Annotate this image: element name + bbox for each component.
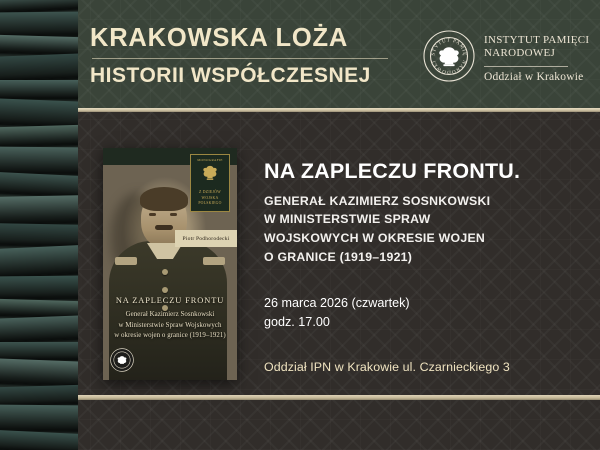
portrait-eye-right xyxy=(170,213,177,216)
cover-subtitle-line-1: Generał Kazimierz Sosnkowski xyxy=(103,310,237,321)
stacked-book xyxy=(0,53,78,81)
portrait-button-1 xyxy=(162,269,168,275)
event-time: godz. 17.00 xyxy=(264,313,586,331)
stacked-book xyxy=(0,276,78,299)
stacked-book xyxy=(0,298,78,317)
event-info-column: NA ZAPLECZU FRONTU. GENERAŁ KAZIMIERZ SO… xyxy=(264,160,586,374)
cover-ipn-seal-icon xyxy=(110,348,134,372)
header-bottom-rule xyxy=(0,108,600,112)
stacked-book xyxy=(0,244,78,277)
portrait-epaulette-right xyxy=(203,257,225,265)
ipn-name-line-2: NARODOWEJ xyxy=(484,47,589,60)
stacked-book xyxy=(0,384,78,405)
stacked-book xyxy=(0,223,78,246)
monographs-series-emblem: MONOGRAFIE Z DZIEJÓW WOJSKA POLSKIEGO xyxy=(190,154,230,212)
event-title: NA ZAPLECZU FRONTU. xyxy=(264,160,586,183)
stacked-book xyxy=(0,80,78,98)
emblem-series-line-3: POLSKIEGO xyxy=(191,201,229,207)
stacked-book xyxy=(0,358,78,386)
ipn-name-line-1: INSTYTUT PAMIĘCI xyxy=(484,34,589,47)
poster-header: KRAKOWSKA LOŻA HISTORII WSPÓŁCZESNEJ INS… xyxy=(0,0,600,110)
cover-title-block: NA ZAPLECZU FRONTU Generał Kazimierz Sos… xyxy=(103,296,237,342)
event-subtitle-line-2: W MINISTERSTWIE SPRAW xyxy=(264,210,586,229)
event-date: 26 marca 2026 (czwartek) xyxy=(264,294,586,312)
cover-subtitle-line-2: w Ministerstwie Spraw Wojskowych xyxy=(103,321,237,332)
event-venue: Oddział IPN w Krakowie ul. Czarnieckiego… xyxy=(264,360,586,374)
ipn-logo: INSTYTUT PAMIĘCI NARODOWEJ INSTYTUT PAMI… xyxy=(423,30,589,83)
portrait-hair xyxy=(140,187,188,211)
ipn-seal-icon: INSTYTUT PAMIĘCI NARODOWEJ xyxy=(423,30,475,82)
cover-subtitle-line-3: w okresie wojen o granice (1919–1921) xyxy=(103,331,237,342)
portrait-button-2 xyxy=(162,287,168,293)
stacked-book xyxy=(0,11,78,35)
stacked-book xyxy=(0,35,78,55)
event-datetime: 26 marca 2026 (czwartek) godz. 17.00 xyxy=(264,294,586,331)
cover-author-label: Piotr Podhorodecki xyxy=(175,230,237,247)
book-stack-decoration xyxy=(0,0,78,450)
gold-eagle-icon xyxy=(199,164,221,184)
stacked-book xyxy=(0,405,78,431)
emblem-series-label: MONOGRAFIE xyxy=(191,158,229,162)
book-cover-image: MONOGRAFIE Z DZIEJÓW WOJSKA POLSKIEGO Pi… xyxy=(103,148,237,380)
stacked-book xyxy=(0,429,78,450)
portrait-eye-left xyxy=(149,213,156,216)
portrait-moustache xyxy=(155,225,173,230)
stacked-book xyxy=(0,98,78,127)
stacked-book xyxy=(0,125,78,147)
bottom-decorative-rule xyxy=(62,395,600,400)
cover-main-title: NA ZAPLECZU FRONTU xyxy=(103,296,237,305)
event-poster: KRAKOWSKA LOŻA HISTORII WSPÓŁCZESNEJ INS… xyxy=(0,0,600,450)
ipn-logo-divider xyxy=(484,66,568,67)
event-subtitle-line-1: GENERAŁ KAZIMIERZ SOSNKOWSKI xyxy=(264,192,586,211)
stacked-book xyxy=(0,342,78,359)
portrait-epaulette-left xyxy=(115,257,137,265)
stacked-book xyxy=(0,146,78,173)
event-subtitle-line-4: O GRANICE (1919–1921) xyxy=(264,248,586,267)
stacked-book xyxy=(0,315,78,342)
event-subtitle-line-3: WOJSKOWYCH W OKRESIE WOJEN xyxy=(264,229,586,248)
stacked-book xyxy=(0,172,78,197)
stacked-book xyxy=(0,0,78,12)
ipn-branch-label: Oddział w Krakowie xyxy=(484,71,589,83)
ipn-logo-text: INSTYTUT PAMIĘCI NARODOWEJ Oddział w Kra… xyxy=(484,30,589,83)
brand-divider xyxy=(92,58,388,59)
stacked-book xyxy=(0,195,78,224)
cover-author-name: Piotr Podhorodecki xyxy=(183,236,230,242)
